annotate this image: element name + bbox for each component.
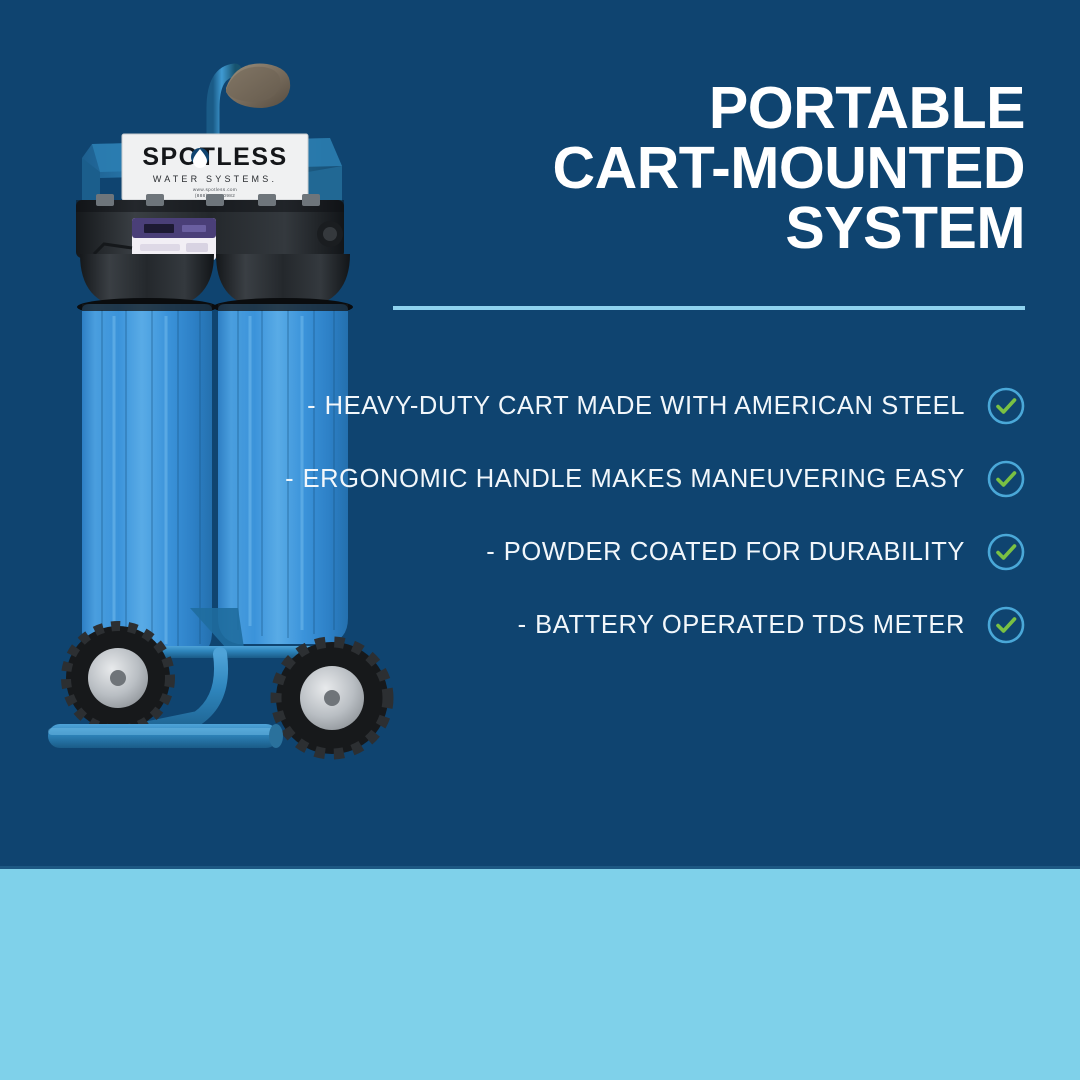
check-circle-icon [986,605,1026,645]
page-title: PORTABLE CART-MOUNTED SYSTEM [325,78,1025,258]
headline-line-1: PORTABLE [325,78,1025,138]
bullet-dash: - [285,465,294,494]
feature-list: - HEAVY-DUTY CART MADE WITH AMERICAN STE… [306,382,1026,674]
svg-text:www.spotless.com: www.spotless.com [193,187,237,192]
feature-label: BATTERY OPERATED TDS METER [535,611,965,640]
list-item: - POWDER COATED FOR DURABILITY [306,528,1026,576]
list-item: - ERGONOMIC HANDLE MAKES MANEUVERING EAS… [306,455,1026,503]
section-divider [393,306,1025,310]
check-circle-icon [986,386,1026,426]
headline-line-3: SYSTEM [325,198,1025,258]
cart-foot-bar-icon [48,724,283,748]
svg-text:WATER SYSTEMS.: WATER SYSTEMS. [153,174,277,184]
list-item: - HEAVY-DUTY CART MADE WITH AMERICAN STE… [306,382,1026,430]
svg-text:SPOTLESS: SPOTLESS [142,143,287,171]
feature-label: HEAVY-DUTY CART MADE WITH AMERICAN STEEL [325,392,965,421]
footer-band [0,869,1080,1080]
bullet-dash: - [518,611,527,640]
feature-label: POWDER COATED FOR DURABILITY [504,538,965,567]
cart-wheel-icon [66,626,170,730]
promo-graphic: SPOTLESS WATER SYSTEMS. www.spotless.com… [0,0,1080,1080]
headline-line-2: CART-MOUNTED [325,138,1025,198]
check-circle-icon [986,459,1026,499]
list-item: - BATTERY OPERATED TDS METER [306,601,1026,649]
bullet-dash: - [486,538,495,567]
bullet-dash: - [307,392,316,421]
check-circle-icon [986,532,1026,572]
product-brand-label: SPOTLESS WATER SYSTEMS. www.spotless.com… [122,134,308,200]
feature-label: ERGONOMIC HANDLE MAKES MANEUVERING EASY [303,465,965,494]
